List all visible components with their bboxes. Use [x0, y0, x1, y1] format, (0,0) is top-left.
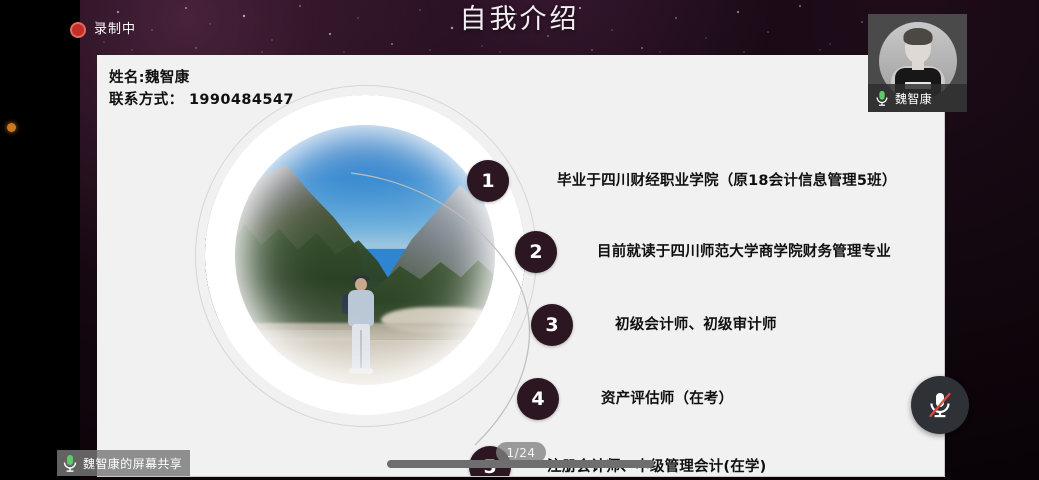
list-item[interactable]: 3 初级会计师、初级审计师: [531, 304, 777, 346]
screen-share-label: 魏智康的屏幕共享: [83, 455, 182, 472]
item-number-badge: 4: [517, 378, 559, 420]
horizontal-scrollbar[interactable]: [97, 458, 944, 470]
shared-slide[interactable]: 姓名:魏智康 联系方式： 1990484547: [97, 55, 945, 477]
item-text: 毕业于四川财经职业学院（原18会计信息管理5班）: [557, 171, 897, 191]
list-item[interactable]: 2 目前就读于四川师范大学商学院财务管理专业: [515, 231, 891, 273]
photo-vignette: [205, 95, 525, 415]
mute-toggle-button[interactable]: [911, 376, 969, 434]
rail-marker-dot-icon: [7, 123, 16, 132]
microphone-muted-icon: [925, 389, 955, 421]
item-text: 资产评估师（在考）: [601, 389, 733, 409]
scrollbar-thumb[interactable]: [387, 460, 654, 468]
screen-share-status: 魏智康的屏幕共享: [57, 450, 190, 476]
self-view-name: 魏智康: [895, 90, 932, 107]
microphone-icon: [874, 88, 890, 108]
item-text: 目前就读于四川师范大学商学院财务管理专业: [597, 242, 891, 262]
presenter-info: 姓名:魏智康 联系方式： 1990484547: [109, 67, 294, 111]
avatar-hair: [903, 28, 932, 45]
item-number-badge: 2: [515, 231, 557, 273]
left-rail: [0, 0, 80, 480]
self-view-video-tile[interactable]: 魏智康: [868, 14, 967, 112]
item-number-badge: 1: [467, 160, 509, 202]
portrait-photo: [205, 95, 525, 415]
presenter-contact-line: 联系方式： 1990484547: [109, 89, 294, 111]
list-item[interactable]: 1 毕业于四川财经职业学院（原18会计信息管理5班）: [467, 160, 897, 202]
record-dot-icon: [70, 22, 86, 38]
recording-label: 录制中: [94, 22, 136, 38]
self-view-name-bar: 魏智康: [868, 84, 967, 112]
presenter-name-line: 姓名:魏智康: [109, 67, 294, 89]
microphone-icon: [61, 453, 79, 473]
item-number-badge: 3: [531, 304, 573, 346]
recording-indicator[interactable]: 录制中: [70, 22, 136, 38]
item-text: 初级会计师、初级审计师: [615, 315, 777, 335]
meeting-screen: 自我介绍 录制中 姓名:魏智康 联系方式： 1990484547: [0, 0, 1039, 480]
list-item[interactable]: 4 资产评估师（在考）: [517, 378, 733, 420]
